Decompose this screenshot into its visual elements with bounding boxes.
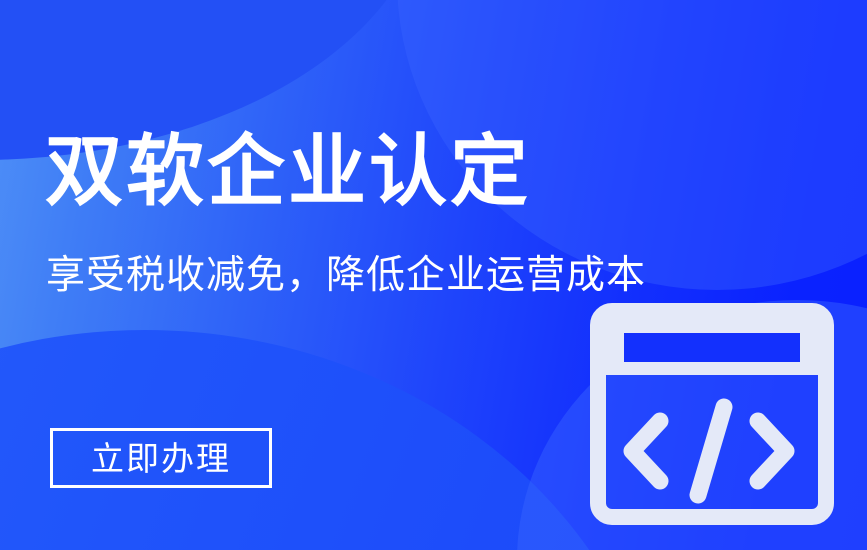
banner-subtitle: 享受税收减免，降低企业运营成本 bbox=[46, 253, 646, 300]
banner-title: 双软企业认定 bbox=[45, 130, 531, 213]
apply-now-button[interactable]: 立即办理 bbox=[50, 428, 272, 488]
code-window-icon bbox=[590, 303, 834, 525]
promo-banner: 双软企业认定 享受税收减免，降低企业运营成本 立即办理 bbox=[0, 0, 867, 550]
banner-content: 双软企业认定 享受税收减免，降低企业运营成本 立即办理 bbox=[0, 0, 867, 550]
